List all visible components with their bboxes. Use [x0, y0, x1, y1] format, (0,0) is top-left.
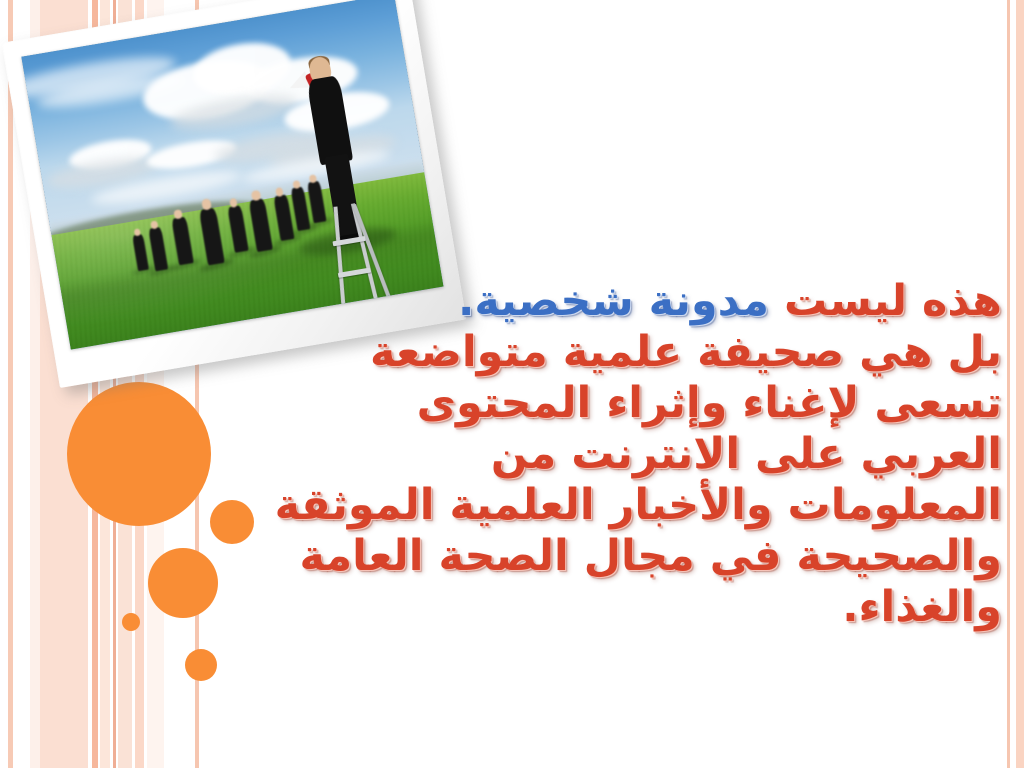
presentation-slide: هذه ليست مدونة شخصية. بل هي صحيفة علمية … [0, 0, 1024, 768]
circle-xsmall [185, 649, 217, 681]
decorative-stripe-10 [1007, 0, 1010, 768]
text-line-1-part-a: هذه ليست [784, 276, 1002, 326]
circle-small [210, 500, 254, 544]
text-line-1: هذه ليست مدونة شخصية. [302, 276, 1002, 327]
text-line-2: بل هي صحيفة علمية متواضعة [302, 327, 1002, 378]
circle-medium [148, 548, 218, 618]
circle-tiny [122, 613, 140, 631]
text-line-4: العربي على الانترنت من [302, 429, 1002, 480]
text-line-7: والغذاء. [302, 582, 1002, 633]
text-line-1-part-b: مدونة شخصية. [458, 276, 769, 326]
circle-large [67, 382, 211, 526]
decorative-stripe-11 [1016, 0, 1024, 768]
text-line-6: والصحيحة في مجال الصحة العامة [302, 531, 1002, 582]
text-line-5: المعلومات والأخبار العلمية الموثقة [302, 480, 1002, 531]
decorative-stripe-0 [8, 0, 13, 768]
text-line-3: تسعى لإغناء وإثراء المحتوى [302, 378, 1002, 429]
slide-body-text: هذه ليست مدونة شخصية. بل هي صحيفة علمية … [302, 276, 1002, 633]
